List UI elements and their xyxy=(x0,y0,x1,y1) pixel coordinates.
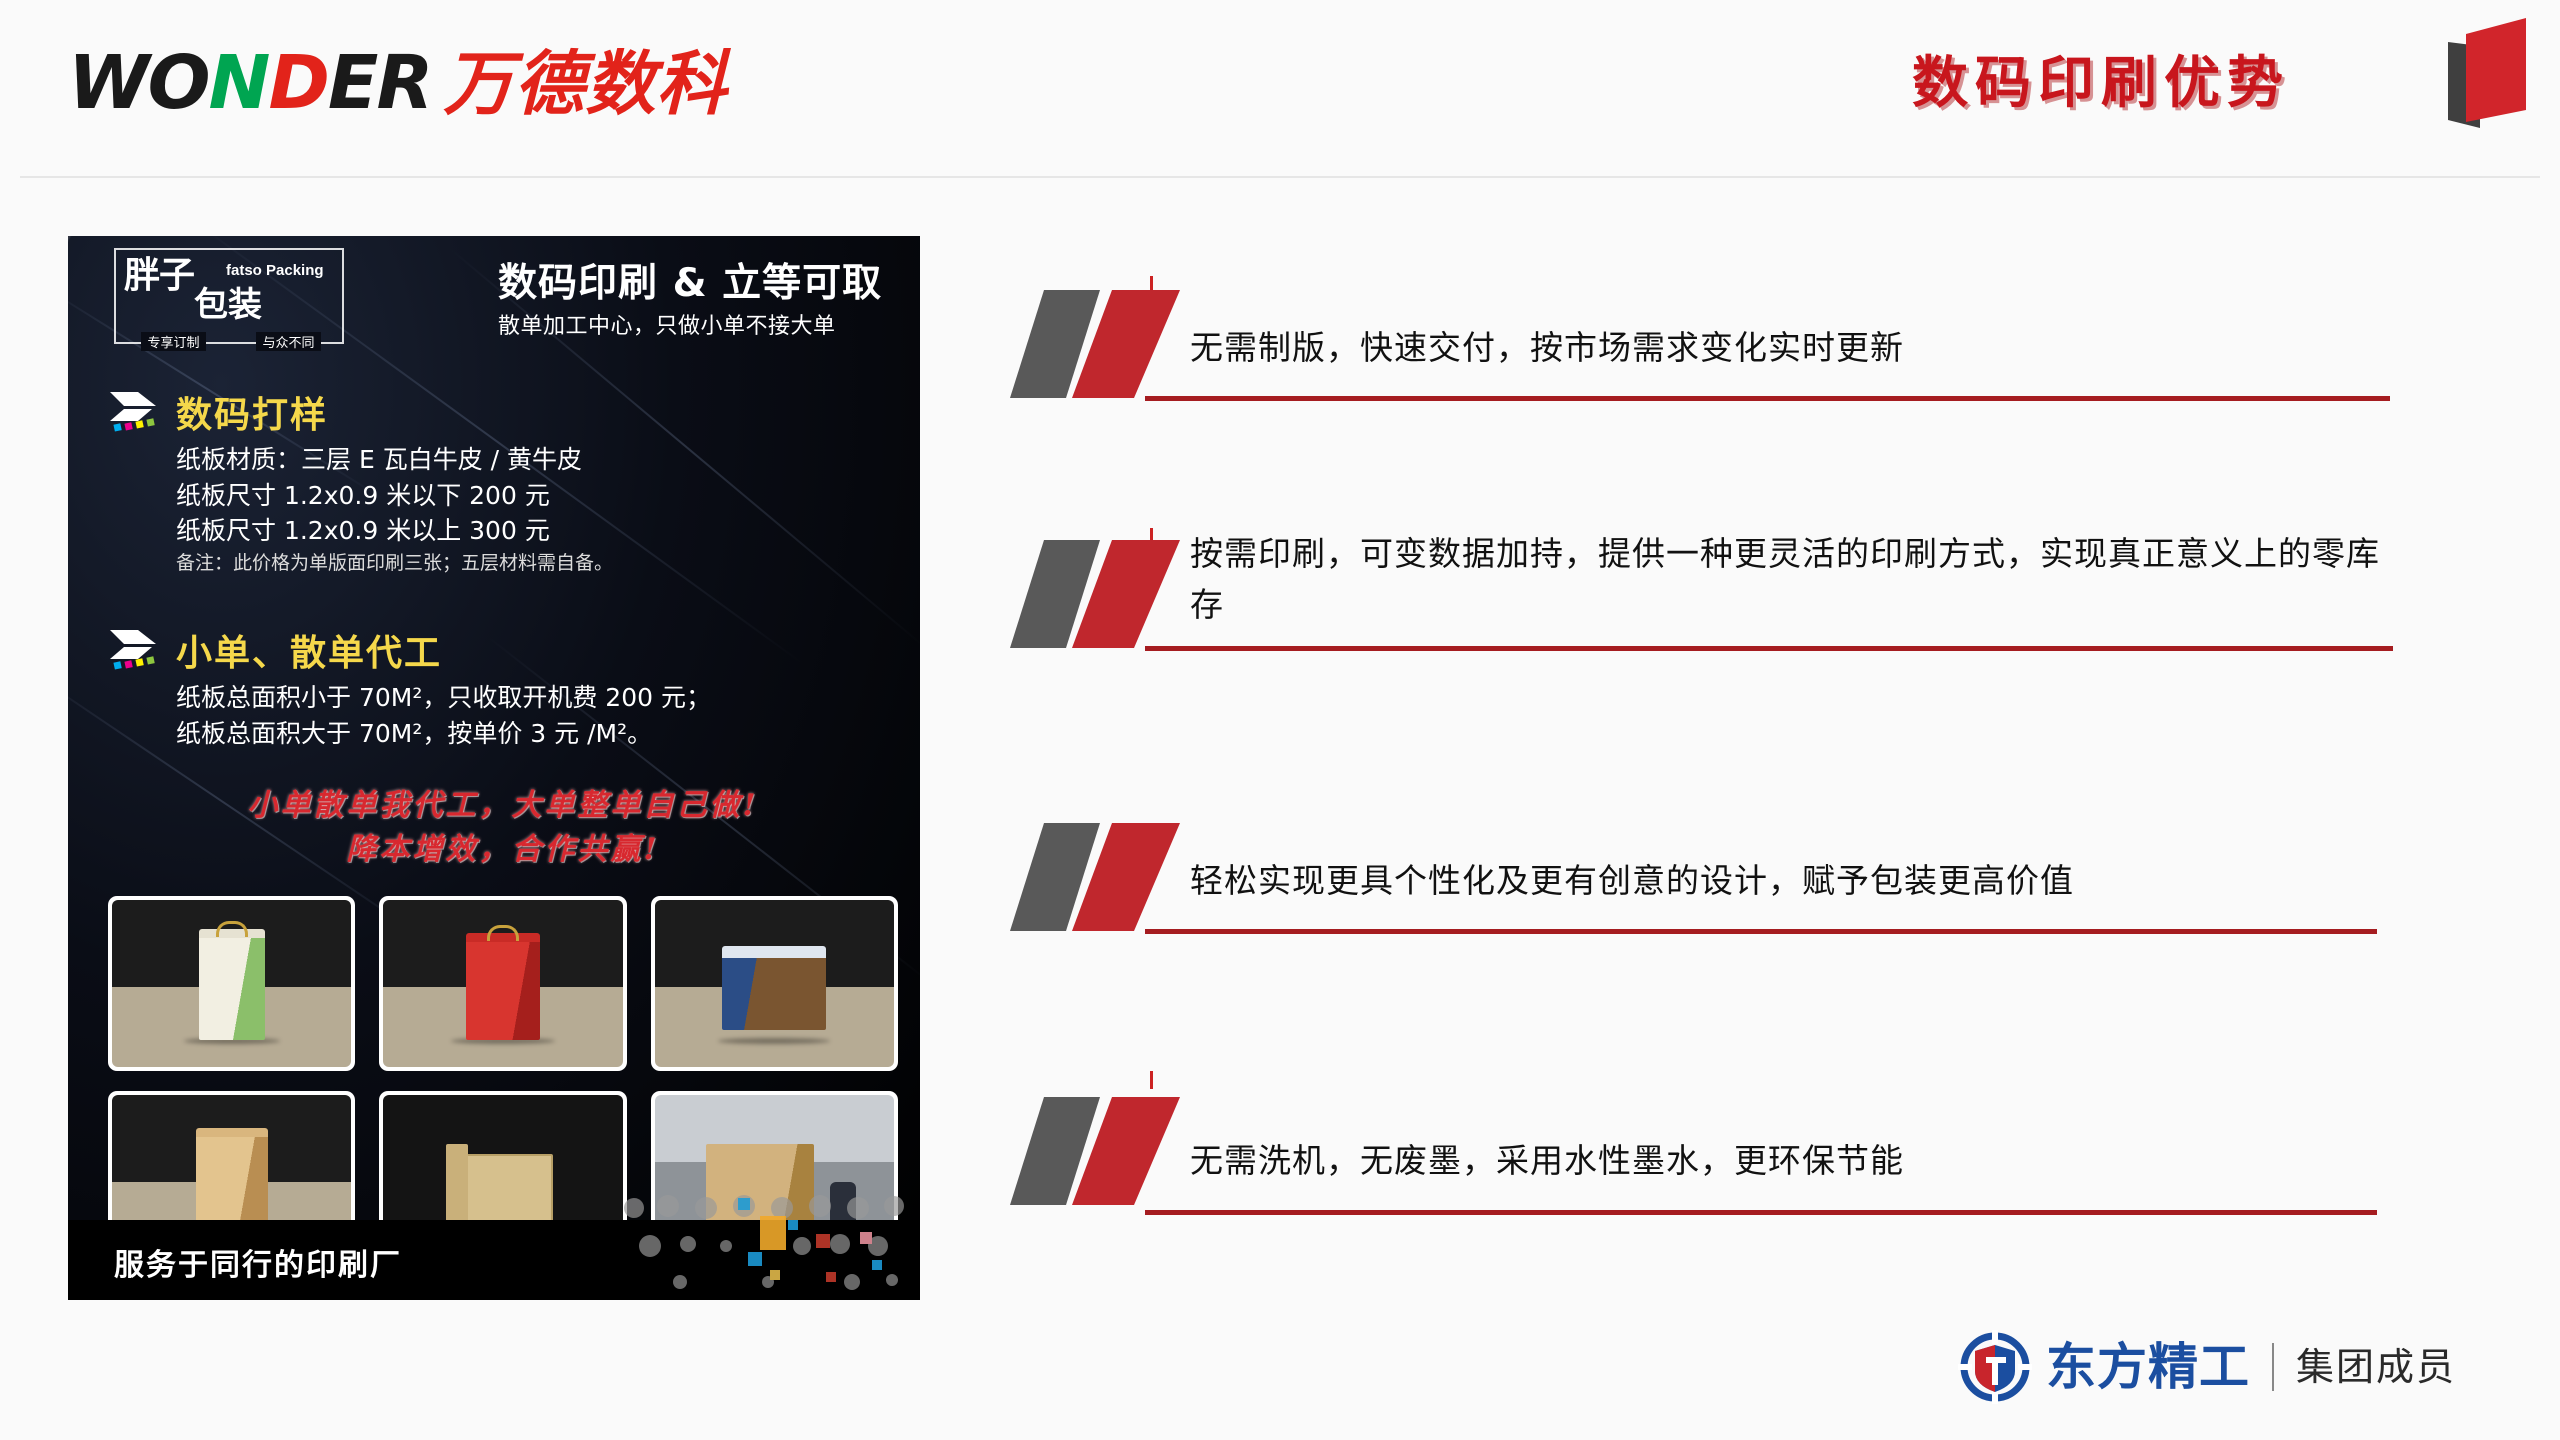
advantage-underline xyxy=(1145,929,2377,934)
poster-footer-text: 服务于同行的印刷厂 xyxy=(114,1240,402,1284)
fatso-logo-en: fatso Packing xyxy=(226,262,324,279)
product-photo xyxy=(108,896,355,1071)
poster-section-small-order-oem: 小单、散单代工 纸板总面积小于 70M²，只收取开机费 200 元； 纸板总面积… xyxy=(108,624,898,751)
poster-headline: 数码印刷 & 立等可取 xyxy=(498,252,882,308)
logo-text-d-red: D xyxy=(268,46,327,120)
fatso-packing-logo: 胖子 fatso Packing 包装 专享订制 与众不同 xyxy=(114,248,344,344)
product-photo xyxy=(379,896,626,1071)
poster-slogan: 小单散单我代工，大单整单自己做! 降本增效，合作共赢! xyxy=(108,784,898,871)
page-header: WO N D ER 万德数科 数码印刷优势 xyxy=(0,0,2560,180)
footer-company-name: 东方精工 xyxy=(2046,1342,2250,1392)
poster-section-digital-proofing: 数码打样 纸板材质：三层 E 瓦白牛皮 / 黄牛皮 纸板尺寸 1.2x0.9 米… xyxy=(108,386,898,577)
section-body: 纸板总面积小于 70M²，只收取开机费 200 元； 纸板总面积大于 70M²，… xyxy=(176,680,898,751)
advantage-underline xyxy=(1145,396,2390,401)
section-line: 纸板总面积大于 70M²，按单价 3 元 /M²。 xyxy=(176,716,898,752)
logo-text-chinese: 万德数科 xyxy=(443,49,727,119)
advantage-text: 无需洗机，无废墨，采用水性墨水，更环保节能 xyxy=(1190,1135,2390,1186)
advantage-text: 无需制版，快速交付，按市场需求变化实时更新 xyxy=(1190,322,2390,373)
logo-text-n-green: N xyxy=(209,46,269,120)
double-chevron-icon xyxy=(1008,819,1188,937)
section-line: 纸板尺寸 1.2x0.9 米以上 300 元 xyxy=(176,513,898,549)
section-heading: 小单、散单代工 xyxy=(176,624,442,676)
product-photo xyxy=(651,896,898,1071)
advantages-list: 无需制版，快速交付，按市场需求变化实时更新 按需印刷，可变数据加持，提供一种更灵… xyxy=(1000,236,2480,1296)
poster-header-band: 胖子 fatso Packing 包装 专享订制 与众不同 数码印刷 & 立等可… xyxy=(68,236,920,354)
corner-decoration-icon xyxy=(2408,2,2538,132)
logo-text-wo: WO xyxy=(68,46,209,120)
section-heading: 数码打样 xyxy=(176,386,328,438)
fatso-logo-cn-top: 胖子 xyxy=(124,258,194,294)
wonder-logo: WO N D ER 万德数科 xyxy=(68,46,727,120)
chevron-arrow-icon xyxy=(108,390,168,434)
fatso-logo-taglines: 专享订制 与众不同 xyxy=(116,332,346,351)
advantage-text: 按需印刷，可变数据加持，提供一种更灵活的印刷方式，实现真正意义上的零库存 xyxy=(1190,528,2380,630)
section-line: 纸板材质：三层 E 瓦白牛皮 / 黄牛皮 xyxy=(176,442,898,478)
chevron-arrow-icon xyxy=(108,628,168,672)
double-chevron-icon xyxy=(1008,536,1188,654)
advantage-underline xyxy=(1145,646,2393,651)
tagline-left: 专享订制 xyxy=(141,332,205,351)
section-title-row: 小单、散单代工 xyxy=(108,624,898,676)
advantage-text: 轻松实现更具个性化及更有创意的设计，赋予包装更高价值 xyxy=(1190,855,2390,906)
bullet-tick xyxy=(1150,1071,1153,1089)
slogan-line-1: 小单散单我代工，大单整单自己做! xyxy=(108,784,898,828)
slogan-line-2: 降本增效，合作共赢! xyxy=(108,828,898,872)
promo-poster-image: 胖子 fatso Packing 包装 专享订制 与众不同 数码印刷 & 立等可… xyxy=(68,236,920,1300)
dongfang-jinggong-logo-icon xyxy=(1958,1330,2032,1404)
fatso-logo-cn-bottom: 包装 xyxy=(194,288,262,322)
footer-divider xyxy=(2272,1343,2274,1391)
footer-membership-label: 集团成员 xyxy=(2296,1348,2456,1386)
logo-text-er: ER xyxy=(328,46,432,120)
section-line: 纸板尺寸 1.2x0.9 米以下 200 元 xyxy=(176,478,898,514)
double-chevron-icon xyxy=(1008,1093,1188,1211)
tagline-right: 与众不同 xyxy=(256,332,320,351)
section-line: 纸板总面积小于 70M²，只收取开机费 200 元； xyxy=(176,680,898,716)
group-member-footer: 东方精工 集团成员 xyxy=(1958,1330,2456,1404)
section-title-row: 数码打样 xyxy=(108,386,898,438)
section-note: 备注：此价格为单版面印刷三张；五层材料需自备。 xyxy=(176,549,898,578)
poster-subheadline: 散单加工中心，只做小单不接大单 xyxy=(498,308,836,340)
header-divider xyxy=(20,176,2540,178)
dot-pattern-decoration-icon xyxy=(620,1190,920,1300)
advantage-underline xyxy=(1145,1210,2377,1215)
section-body: 纸板材质：三层 E 瓦白牛皮 / 黄牛皮 纸板尺寸 1.2x0.9 米以下 20… xyxy=(176,442,898,577)
page-title: 数码印刷优势 xyxy=(1912,38,2290,119)
double-chevron-icon xyxy=(1008,286,1188,404)
